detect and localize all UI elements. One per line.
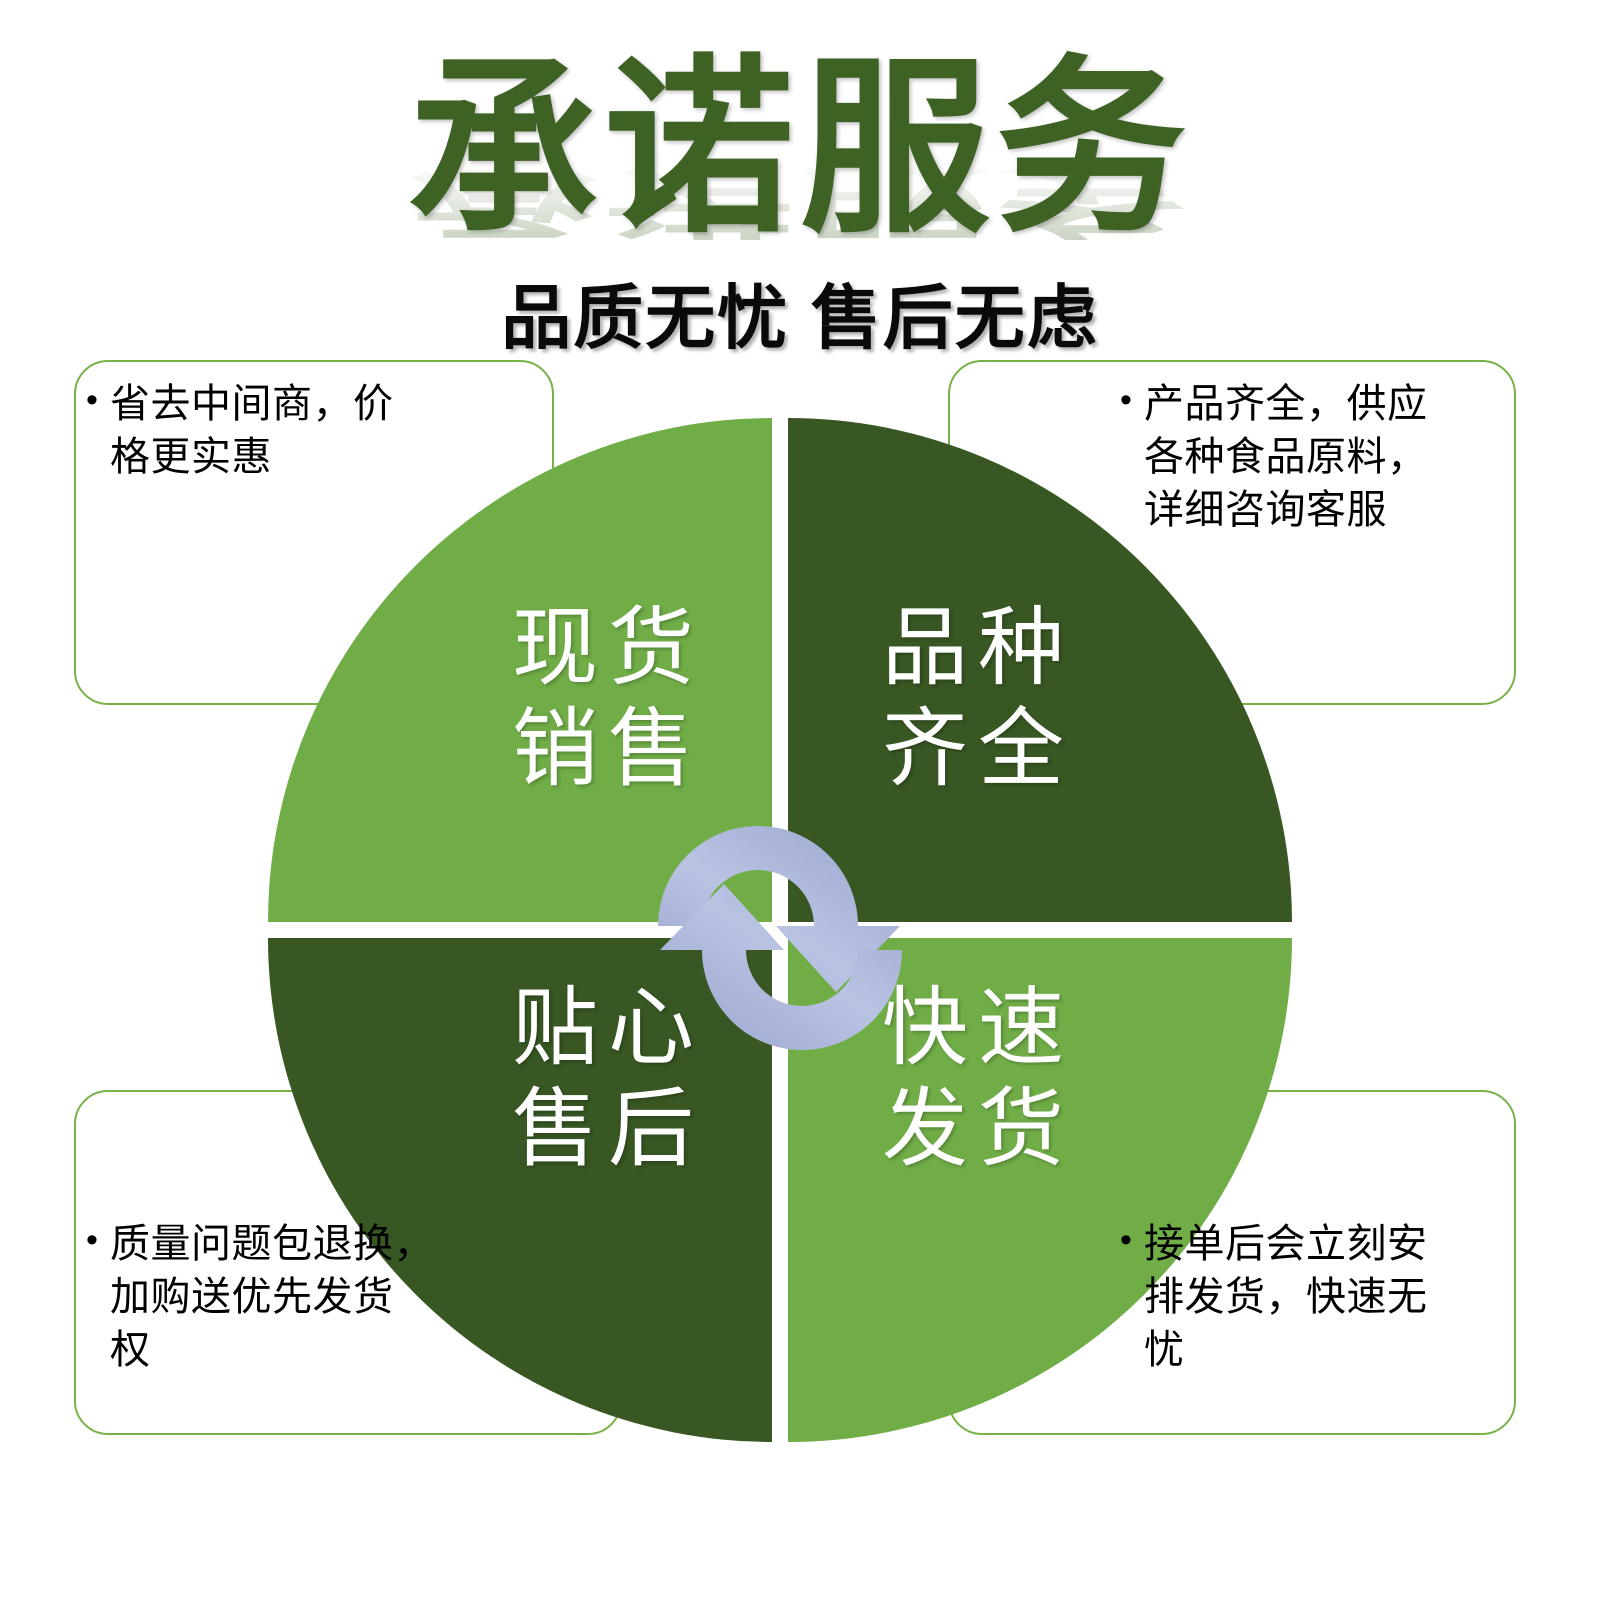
page-subtitle: 品质无忧 售后无虑 <box>0 262 1600 363</box>
callout-text-bottom-left: • 质量问题包退换， 加购送优先发货 权 <box>86 1218 476 1378</box>
bullet-icon: • <box>1120 378 1144 423</box>
callout-label-top-left: 省去中间商，价 格更实惠 <box>110 378 476 484</box>
page-title: 承诺服务 <box>0 54 1600 244</box>
promise-service-infographic: 承诺服务 承诺服务 品质无忧 售后无虑 现货 销售 品种 齐全 贴心 售后 快速… <box>0 0 1600 1600</box>
cycle-arrows-icon <box>600 778 960 1098</box>
bullet-icon: • <box>1120 1218 1144 1263</box>
page-title-wrap: 承诺服务 <box>0 54 1600 244</box>
quadrant-label-top-right: 品种 齐全 <box>828 598 1128 801</box>
callout-label-bottom-left: 质量问题包退换， 加购送优先发货 权 <box>110 1218 476 1378</box>
quadrant-label-top-left: 现货 销售 <box>458 598 758 801</box>
callout-label-top-right: 产品齐全，供应 各种食品原料， 详细咨询客服 <box>1144 378 1500 538</box>
callout-text-bottom-right: • 接单后会立刻安 排发货，快速无 忧 <box>1120 1218 1500 1378</box>
bullet-icon: • <box>86 1218 110 1263</box>
callout-text-top-right: • 产品齐全，供应 各种食品原料， 详细咨询客服 <box>1120 378 1500 538</box>
callout-label-bottom-right: 接单后会立刻安 排发货，快速无 忧 <box>1144 1218 1500 1378</box>
bullet-icon: • <box>86 378 110 423</box>
callout-text-top-left: • 省去中间商，价 格更实惠 <box>86 378 476 484</box>
header: 承诺服务 承诺服务 品质无忧 售后无虑 <box>0 0 1600 350</box>
